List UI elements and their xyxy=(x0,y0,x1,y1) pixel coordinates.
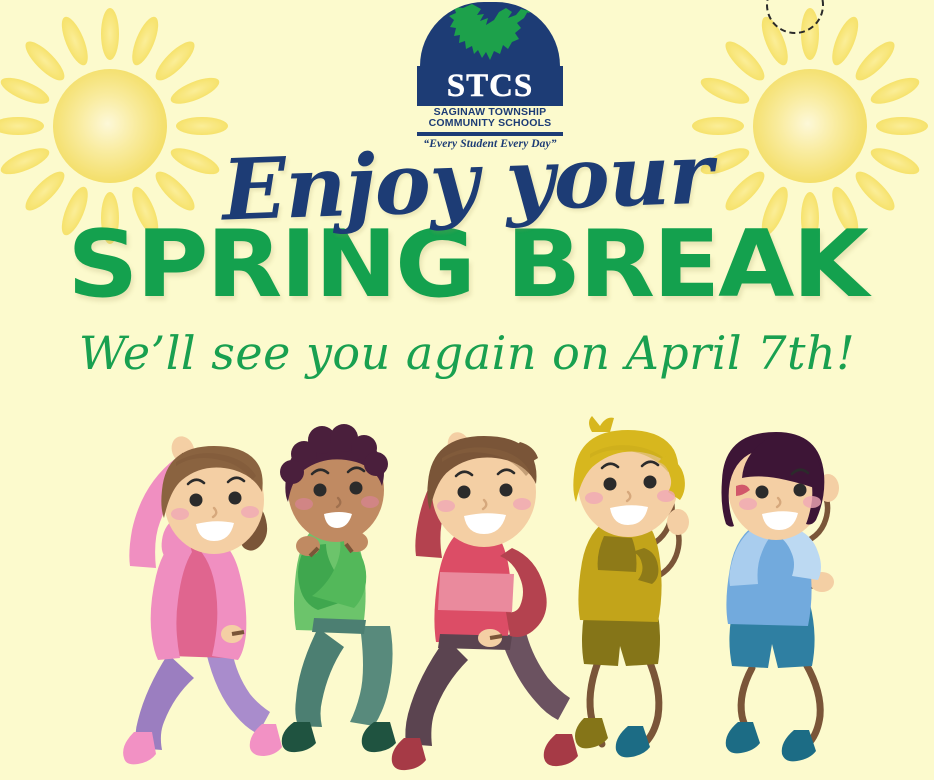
spring-break-poster: STCS SAGINAW TOWNSHIP COMMUNITY SCHOOLS … xyxy=(0,0,934,780)
kid-boy-red-stripe xyxy=(392,429,578,770)
return-date-line: We’ll see you again on April 7th! xyxy=(0,330,934,376)
logo-acronym: STCS xyxy=(447,70,534,103)
dancing-kids-illustration xyxy=(0,396,934,780)
stcs-logo: STCS SAGINAW TOWNSHIP COMMUNITY SCHOOLS … xyxy=(417,2,563,150)
logo-district-line2: COMMUNITY SCHOOLS xyxy=(417,118,563,129)
kid-boy-green xyxy=(280,424,396,752)
logo-district-name: SAGINAW TOWNSHIP COMMUNITY SCHOOLS xyxy=(417,106,563,130)
globe-icon xyxy=(420,2,560,66)
kid-girl-pink xyxy=(123,433,282,764)
logo-acronym-band: STCS xyxy=(417,66,563,106)
kid-girl-blue xyxy=(722,432,840,761)
kid-boy-mustard xyxy=(573,416,689,757)
